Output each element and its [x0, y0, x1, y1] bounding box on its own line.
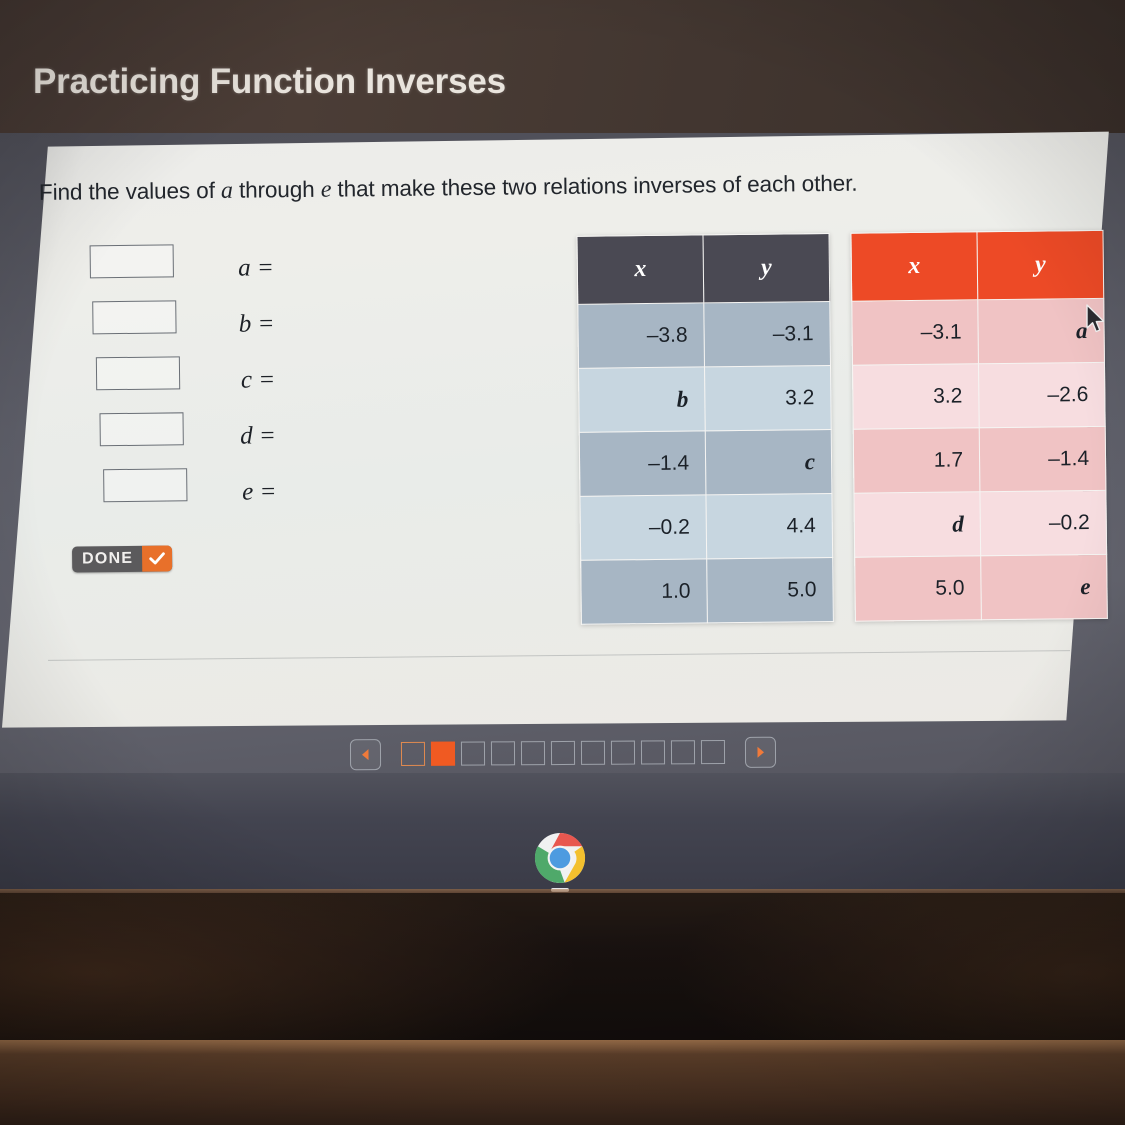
cell-x: –3.8	[578, 303, 705, 368]
cell-symbol-b: b	[677, 386, 689, 411]
instruction-text: Find the values of a through e that make…	[39, 171, 858, 207]
cell-x: –3.1	[852, 300, 979, 365]
instruction-part-3: that make these two relations inverses o…	[331, 171, 857, 202]
check-icon	[142, 545, 172, 571]
photo-of-chromebook: Practicing Function Inverses Find the va…	[0, 0, 1125, 1125]
triangle-right-icon[interactable]	[744, 736, 775, 767]
answer-input-c[interactable]	[96, 356, 180, 390]
cell-x: 1.7	[853, 428, 980, 493]
instruction-part-2: through	[233, 177, 321, 203]
cell-symbol-c: c	[805, 449, 816, 474]
answer-label-e: e =	[230, 478, 276, 507]
page-dot-7[interactable]	[580, 741, 604, 765]
cell-y: –3.1	[704, 301, 831, 366]
cell-y: –2.6	[978, 362, 1105, 427]
cell-y: c	[705, 429, 832, 494]
table-row: –3.1 a	[852, 298, 1105, 365]
answer-row-e: e =	[46, 467, 277, 526]
table-row: d –0.2	[854, 490, 1107, 557]
cell-symbol-a: a	[1076, 318, 1088, 343]
answer-row-a: a =	[44, 243, 275, 302]
page-dot-8[interactable]	[610, 741, 634, 765]
page-title: Practicing Function Inverses	[33, 62, 506, 102]
page-dot-10[interactable]	[670, 740, 694, 764]
answer-input-a[interactable]	[90, 244, 174, 278]
cell-x: –0.2	[580, 495, 707, 560]
cell-y: –0.2	[980, 490, 1107, 555]
page-dot-2[interactable]	[430, 742, 454, 766]
answer-label-b: b =	[228, 310, 274, 339]
cell-x: b	[578, 367, 705, 432]
cell-x: 5.0	[855, 556, 982, 621]
answer-label-d: d =	[230, 422, 276, 451]
cell-y: 5.0	[707, 557, 834, 622]
lesson-content: Find the values of a through e that make…	[0, 122, 1125, 737]
column-header-x: x	[577, 235, 704, 304]
table-row: –0.2 4.4	[580, 493, 833, 560]
laptop-base-highlight	[0, 1040, 1125, 1054]
page-dot-11[interactable]	[700, 740, 724, 764]
pagination-bar	[0, 730, 1125, 777]
column-header-y: y	[977, 230, 1104, 299]
laptop-bezel: SAMSUNG	[0, 893, 1125, 1053]
page-dot-3[interactable]	[460, 741, 484, 765]
table-row: 1.7 –1.4	[853, 426, 1106, 493]
table-header-row: x y	[577, 233, 830, 304]
answer-input-e[interactable]	[103, 468, 187, 502]
page-dot-5[interactable]	[520, 741, 544, 765]
cell-x: –1.4	[579, 431, 706, 496]
cell-y: 3.2	[704, 365, 831, 430]
answer-row-d: d =	[45, 411, 276, 470]
triangle-left-icon[interactable]	[349, 739, 380, 770]
table-row: 3.2 –2.6	[852, 362, 1105, 429]
column-header-x: x	[851, 232, 978, 301]
cell-symbol-d: d	[952, 511, 964, 536]
cell-x: d	[854, 492, 981, 557]
cell-y: e	[981, 554, 1108, 619]
chrome-icon[interactable]	[534, 832, 586, 884]
chromebook-screen: Practicing Function Inverses Find the va…	[0, 0, 1125, 893]
lesson-card-wrapper: Find the values of a through e that make…	[0, 128, 1125, 740]
cell-x: 3.2	[852, 364, 979, 429]
column-header-y: y	[703, 233, 830, 302]
table-header-row: x y	[851, 230, 1104, 301]
answer-row-c: c =	[45, 355, 276, 414]
instruction-var-a: a	[221, 178, 233, 204]
relation-table-blue: x y –3.8 –3.1 b 3.2	[576, 233, 833, 625]
answer-label-a: a =	[228, 254, 274, 283]
page-dot-4[interactable]	[490, 741, 514, 765]
table-row: b 3.2	[578, 365, 831, 432]
cell-y: a	[978, 298, 1105, 363]
relation-table-red: x y –3.1 a 3.2 –2.6	[850, 230, 1107, 622]
page-dot-9[interactable]	[640, 740, 664, 764]
page-dot-6[interactable]	[550, 741, 574, 765]
cell-y: –1.4	[979, 426, 1106, 491]
app-header-bar: Practicing Function Inverses	[0, 0, 1125, 140]
page-dot-1[interactable]	[400, 742, 424, 766]
instruction-part-1: Find the values of	[39, 178, 221, 205]
table-row: 1.0 5.0	[581, 557, 834, 624]
table-row: 5.0 e	[855, 554, 1108, 621]
answer-row-b: b =	[44, 299, 275, 358]
cell-y: 4.4	[706, 493, 833, 558]
cell-x: 1.0	[581, 559, 708, 624]
done-button[interactable]: DONE	[72, 545, 172, 572]
done-button-label: DONE	[72, 546, 142, 573]
answer-input-d[interactable]	[99, 412, 183, 446]
cell-symbol-e: e	[1080, 574, 1091, 599]
answer-fields-group: a = b = c = d =	[44, 243, 277, 526]
table-row: –3.8 –3.1	[578, 301, 831, 368]
instruction-var-e: e	[321, 177, 332, 203]
answer-input-b[interactable]	[92, 300, 176, 334]
answer-label-c: c =	[229, 366, 275, 395]
table-row: –1.4 c	[579, 429, 832, 496]
